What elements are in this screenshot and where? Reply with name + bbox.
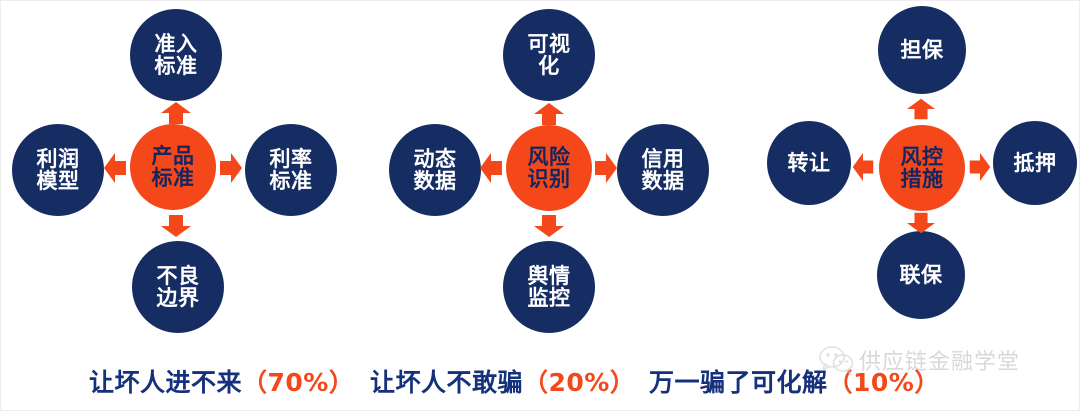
caption-cluster-1-percent: （70%） [242, 368, 354, 397]
node-entry-standard[interactable]: 准入 标准 [130, 9, 222, 101]
node-joint-guarantee[interactable]: 联保 [877, 231, 965, 319]
node-credit-data-label: 信用 数据 [642, 148, 685, 192]
node-interest-rate-standard-label: 利率 标准 [270, 148, 313, 192]
node-bad-debt-boundary[interactable]: 不良 边界 [132, 241, 224, 333]
arrow-right-cluster-1 [220, 153, 242, 183]
node-interest-rate-standard[interactable]: 利率 标准 [245, 124, 337, 216]
arrow-up-cluster-3 [907, 97, 935, 121]
arrow-up-cluster-2 [534, 103, 564, 125]
node-profit-model-label: 利润 模型 [37, 148, 80, 192]
arrow-left-cluster-2 [480, 153, 502, 183]
node-dynamic-data-label: 动态 数据 [414, 148, 457, 192]
caption-cluster-2-percent: （20%） [523, 368, 635, 397]
node-mortgage[interactable]: 抵押 [993, 121, 1077, 205]
watermark: 供应链金融学堂 [819, 344, 1020, 376]
watermark-text: 供应链金融学堂 [859, 344, 1020, 376]
arrow-left-cluster-3 [851, 153, 875, 181]
arrow-right-cluster-2 [595, 153, 617, 183]
node-joint-guarantee-label: 联保 [900, 264, 943, 286]
caption-cluster-1-text: 让坏人进不来 [89, 368, 242, 397]
arrow-down-cluster-2 [534, 215, 564, 237]
arrow-left-cluster-1 [104, 153, 126, 183]
node-profit-model[interactable]: 利润 模型 [12, 124, 104, 216]
hub-risk-identification[interactable]: 风险 识别 [506, 125, 592, 211]
caption-cluster-3-text: 万一骗了可化解 [649, 368, 828, 397]
node-visualization-label: 可视 化 [528, 33, 571, 77]
caption-cluster-2-text: 让坏人不敢骗 [370, 368, 523, 397]
hub-risk-control-measures-label: 风控 措施 [901, 146, 944, 190]
node-entry-standard-label: 准入 标准 [155, 33, 198, 77]
hub-product-standard[interactable]: 产品 标准 [130, 124, 216, 210]
arrow-down-cluster-3 [907, 211, 935, 235]
node-bad-debt-boundary-label: 不良 边界 [157, 265, 200, 309]
wechat-icon [819, 345, 853, 375]
hub-product-standard-label: 产品 标准 [152, 145, 195, 189]
node-mortgage-label: 抵押 [1014, 152, 1057, 174]
node-visualization[interactable]: 可视 化 [503, 9, 595, 101]
node-public-opinion-monitoring[interactable]: 舆情 监控 [503, 241, 595, 333]
caption-cluster-1: 让坏人进不来（70%） [89, 363, 354, 399]
arrow-down-cluster-1 [161, 215, 191, 237]
hub-risk-control-measures[interactable]: 风控 措施 [879, 125, 965, 211]
node-credit-data[interactable]: 信用 数据 [617, 124, 709, 216]
caption-cluster-2: 让坏人不敢骗（20%） [370, 363, 635, 399]
arrow-right-cluster-3 [968, 153, 992, 181]
arrow-up-cluster-1 [161, 102, 191, 124]
diagram-canvas: 准入 标准 利润 模型 产品 标准 利率 标准 不良 边界 可视 化 [0, 0, 1080, 411]
hub-risk-identification-label: 风险 识别 [528, 146, 571, 190]
node-transfer[interactable]: 转让 [767, 121, 851, 205]
node-transfer-label: 转让 [788, 152, 831, 174]
node-guarantee[interactable]: 担保 [878, 6, 966, 94]
node-dynamic-data[interactable]: 动态 数据 [389, 124, 481, 216]
node-public-opinion-monitoring-label: 舆情 监控 [528, 265, 571, 309]
node-guarantee-label: 担保 [901, 39, 944, 61]
